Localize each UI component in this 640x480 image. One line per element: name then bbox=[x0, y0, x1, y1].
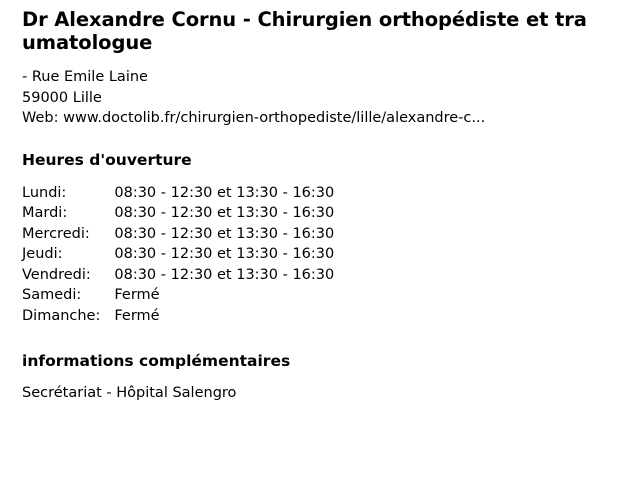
additional-info-heading: informations complémentaires bbox=[22, 352, 614, 371]
website-line: Web: www.doctolib.fr/chirurgien-orthoped… bbox=[22, 108, 614, 129]
hours-day-label: Dimanche: bbox=[22, 306, 114, 327]
table-row: Dimanche: Fermé bbox=[22, 306, 334, 327]
table-row: Lundi: 08:30 - 12:30 et 13:30 - 16:30 bbox=[22, 183, 334, 204]
hours-day-value: 08:30 - 12:30 et 13:30 - 16:30 bbox=[114, 244, 334, 265]
table-row: Mercredi: 08:30 - 12:30 et 13:30 - 16:30 bbox=[22, 224, 334, 245]
hours-day-value: Fermé bbox=[114, 285, 334, 306]
hours-day-value: 08:30 - 12:30 et 13:30 - 16:30 bbox=[114, 183, 334, 204]
table-row: Samedi: Fermé bbox=[22, 285, 334, 306]
hours-day-label: Vendredi: bbox=[22, 265, 114, 286]
hours-day-value: 08:30 - 12:30 et 13:30 - 16:30 bbox=[114, 203, 334, 224]
hours-day-label: Mercredi: bbox=[22, 224, 114, 245]
page-title: Dr Alexandre Cornu - Chirurgien orthopéd… bbox=[22, 8, 600, 54]
address-block: - Rue Emile Laine 59000 Lille Web: www.d… bbox=[22, 67, 614, 129]
table-row: Mardi: 08:30 - 12:30 et 13:30 - 16:30 bbox=[22, 203, 334, 224]
hours-day-value: 08:30 - 12:30 et 13:30 - 16:30 bbox=[114, 265, 334, 286]
additional-info-text: Secrétariat - Hôpital Salengro bbox=[22, 383, 614, 404]
table-row: Vendredi: 08:30 - 12:30 et 13:30 - 16:30 bbox=[22, 265, 334, 286]
business-hours-card: Dr Alexandre Cornu - Chirurgien orthopéd… bbox=[0, 0, 640, 480]
hours-day-value: Fermé bbox=[114, 306, 334, 327]
hours-day-label: Lundi: bbox=[22, 183, 114, 204]
address-street: - Rue Emile Laine bbox=[22, 67, 614, 88]
opening-hours-heading: Heures d'ouverture bbox=[22, 151, 614, 170]
hours-day-label: Samedi: bbox=[22, 285, 114, 306]
address-city: 59000 Lille bbox=[22, 88, 614, 109]
hours-day-label: Mardi: bbox=[22, 203, 114, 224]
hours-day-label: Jeudi: bbox=[22, 244, 114, 265]
table-row: Jeudi: 08:30 - 12:30 et 13:30 - 16:30 bbox=[22, 244, 334, 265]
hours-day-value: 08:30 - 12:30 et 13:30 - 16:30 bbox=[114, 224, 334, 245]
card-content: Dr Alexandre Cornu - Chirurgien orthopéd… bbox=[22, 8, 614, 404]
opening-hours-table: Lundi: 08:30 - 12:30 et 13:30 - 16:30 Ma… bbox=[22, 183, 334, 327]
